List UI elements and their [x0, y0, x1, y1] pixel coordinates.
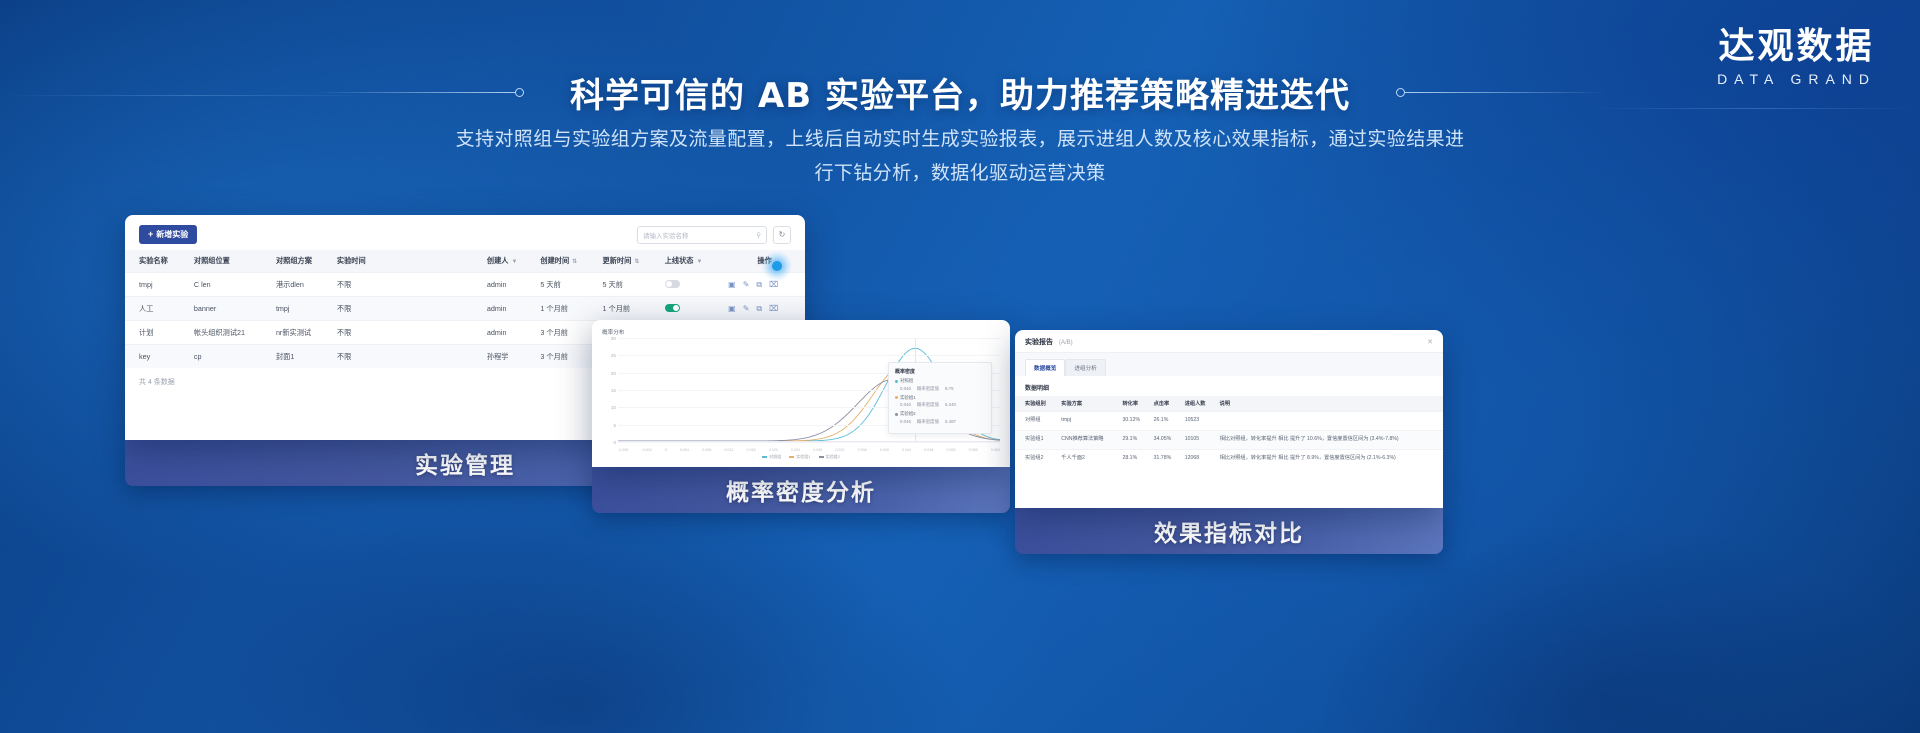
th-updated-time[interactable]: 更新时间⇅ — [599, 250, 661, 273]
y-tick-label: 25 — [611, 353, 616, 358]
tab-进组分析[interactable]: 进组分析 — [1065, 359, 1105, 376]
metric-cell-group: 实验组2 — [1015, 449, 1057, 467]
close-icon[interactable]: ✕ — [1427, 338, 1433, 346]
metric-screenshot: 实验报告 (A/B) ✕ 数据概览进组分析 数据明细 实验组别实验方案转化率点击… — [1015, 330, 1443, 508]
cell-time: 不限 — [333, 297, 483, 321]
th-experiment-name: 实验名称 — [125, 250, 190, 273]
y-tick-label: 10 — [611, 405, 616, 410]
online-toggle[interactable] — [665, 304, 680, 312]
metric-cell-plan: tmpj — [1057, 412, 1118, 431]
y-tick-label: 15 — [611, 388, 616, 393]
metric-th-3: 点击率 — [1150, 396, 1181, 412]
brand-name-cn: 达观数据 — [1717, 26, 1876, 67]
tooltip-group: 对照组0.046概率密度值8.75 — [895, 378, 985, 392]
th-online-label: 上线状态 — [665, 256, 694, 265]
metric-section-title: 数据明细 — [1015, 376, 1443, 396]
x-tick-label: 0.012 — [724, 448, 733, 452]
cell-name: key — [125, 345, 190, 369]
legend-item[interactable]: 实验组2 — [819, 454, 840, 460]
card-label-density: 概率密度分析 — [592, 467, 1010, 513]
metric-cell-plan: 千人千面2 — [1057, 449, 1118, 467]
metric-cell-note — [1216, 412, 1443, 431]
cell-updated: 1 个月前 — [599, 297, 661, 321]
metric-th-0: 实验组别 — [1015, 396, 1057, 412]
cell-creator: admin — [483, 321, 536, 345]
tooltip-metric: 0.046 — [900, 386, 911, 392]
delete-icon[interactable]: ⌧ — [769, 280, 778, 290]
tooltip-metric: 0.046 — [900, 419, 911, 425]
th-control-plan: 对照组方案 — [272, 250, 333, 273]
search-icon[interactable]: ⚲ — [756, 231, 761, 239]
refresh-icon[interactable]: ↻ — [773, 226, 791, 244]
filter-icon[interactable]: ▼ — [512, 259, 518, 265]
x-tick-label: 0.028 — [813, 448, 822, 452]
card-label-metric: 效果指标对比 — [1015, 508, 1443, 554]
new-experiment-label: 新增实验 — [156, 229, 188, 240]
sort-icon[interactable]: ⇅ — [572, 259, 577, 265]
cell-position: C len — [190, 273, 272, 297]
metric-cell-conversion: 30.12% — [1118, 412, 1149, 431]
x-tick-label: 0.032 — [835, 448, 844, 452]
subtitle-line-2: 行下钻分析，数据化驱动运营决策 — [370, 156, 1550, 190]
cell-plan: 港示dlen — [272, 273, 333, 297]
cell-operations: ▣✎⧉⌧ — [724, 273, 805, 297]
cell-position: banner — [190, 297, 272, 321]
table-row[interactable]: 人工bannertmpj不限admin1 个月前1 个月前▣✎⧉⌧ — [125, 297, 805, 321]
cell-time: 不限 — [333, 345, 483, 369]
subtitle-line-1: 支持对照组与实验组方案及流量配置，上线后自动实时生成实验报表，展示进组人数及核心… — [370, 122, 1550, 156]
cell-created: 3 个月前 — [536, 345, 598, 369]
edit-icon[interactable]: ✎ — [743, 280, 750, 290]
search-placeholder: 请输入实验名称 — [643, 230, 689, 240]
cell-online-status[interactable] — [661, 297, 724, 321]
cell-name: 人工 — [125, 297, 190, 321]
metric-cell-group: 对照组 — [1015, 412, 1057, 431]
metric-cell-ctr: 34.05% — [1150, 430, 1181, 449]
x-tick-label: 0.040 — [880, 448, 889, 452]
grid-line — [618, 338, 1000, 339]
headline-rule-right — [1405, 92, 1605, 93]
metric-cell-ctr: 26.1% — [1150, 412, 1181, 431]
x-tick-label: 0.016 — [747, 448, 756, 452]
tooltip-value: 5.240 — [945, 402, 956, 408]
chart-y-axis: 302520151050 — [602, 338, 618, 442]
th-created-label: 创建时间 — [540, 256, 569, 265]
metric-th-5: 说明 — [1216, 396, 1443, 412]
metric-tabs: 数据概览进组分析 — [1015, 353, 1443, 376]
cell-name: tmpj — [125, 273, 190, 297]
chart-x-tick-labels: -0.008-0.00400.0040.0080.0120.0160.0200.… — [618, 448, 1000, 452]
cell-creator: 孙程学 — [483, 345, 536, 369]
modal-title-text: 实验报告 — [1025, 339, 1053, 346]
tooltip-label: 概率密度值 — [917, 419, 939, 425]
experiment-search-area: 请输入实验名称 ⚲ ↻ — [637, 226, 791, 244]
metric-cell-users: 10523 — [1181, 412, 1216, 431]
tooltip-groups: 对照组0.046概率密度值8.75实验组10.046概率密度值5.240实验组2… — [895, 378, 985, 425]
x-tick-label: 0.024 — [791, 448, 800, 452]
headline-rule-left — [315, 92, 515, 93]
plus-icon: + — [148, 230, 153, 239]
metric-table-header: 实验组别实验方案转化率点击率进组人数说明 — [1015, 396, 1443, 412]
metric-row: 对照组tmpj30.12%26.1%10523 — [1015, 412, 1443, 431]
filter-icon[interactable]: ▼ — [696, 259, 702, 265]
th-online-status[interactable]: 上线状态▼ — [661, 250, 724, 273]
tooltip-group: 实验组20.046概率密度值5.487 — [895, 411, 985, 425]
th-creator[interactable]: 创建人▼ — [483, 250, 536, 273]
page-title: 科学可信的 AB 实验平台，助力推荐策略精进迭代 — [524, 68, 1396, 117]
grid-line — [618, 355, 1000, 356]
legend-item[interactable]: 对照组 — [762, 454, 781, 460]
chart-area: 302520151050 -0.008-0.00400.0040.0080.01… — [602, 338, 1000, 456]
x-tick-label: 0.020 — [769, 448, 778, 452]
metric-th-1: 实验方案 — [1057, 396, 1118, 412]
cell-time: 不限 — [333, 321, 483, 345]
cell-plan: 封面1 — [272, 345, 333, 369]
metric-cell-ctr: 31.78% — [1150, 449, 1181, 467]
view-icon[interactable]: ▣ — [728, 280, 736, 290]
cell-online-status[interactable] — [661, 273, 724, 297]
tab-数据概览[interactable]: 数据概览 — [1025, 359, 1065, 376]
edit-icon[interactable]: ✎ — [743, 304, 750, 314]
metric-row: 实验组2千人千面228.1%31.78%12068相比对照组，转化率提升 相比 … — [1015, 449, 1443, 467]
x-tick-label: 0.008 — [702, 448, 711, 452]
x-tick-label: 0.060 — [991, 448, 1000, 452]
card-metric-comparison: 实验报告 (A/B) ✕ 数据概览进组分析 数据明细 实验组别实验方案转化率点击… — [1015, 330, 1443, 554]
metric-cell-note: 相比对照组，转化率提升 相比 提升了 8.9%，置信度置信区间为 (2.1%-6… — [1216, 449, 1443, 467]
metric-cell-conversion: 28.1% — [1118, 449, 1149, 467]
x-tick-label: 0.056 — [969, 448, 978, 452]
th-creator-label: 创建人 — [487, 256, 509, 265]
cell-operations: ▣✎⧉⌧ — [724, 297, 805, 321]
headline-dot-left — [515, 88, 524, 97]
metric-th-4: 进组人数 — [1181, 396, 1216, 412]
y-tick-label: 20 — [611, 371, 616, 376]
metric-cell-note: 相比对照组，转化率提升 相比 提升了 10.6%，置信度置信区间为 (3.4%-… — [1216, 430, 1443, 449]
tooltip-label: 概率密度值 — [917, 402, 939, 408]
th-updated-label: 更新时间 — [603, 256, 632, 265]
chart-tooltip: 概率密度 对照组0.046概率密度值8.75实验组10.046概率密度值5.24… — [888, 362, 992, 434]
x-tick-label: 0.048 — [924, 448, 933, 452]
x-tick-label: 0 — [665, 448, 667, 452]
cell-created: 3 个月前 — [536, 321, 598, 345]
modal-subtitle: (A/B) — [1059, 340, 1073, 346]
y-tick-label: 30 — [611, 336, 616, 341]
cell-created: 5 天前 — [536, 273, 598, 297]
y-tick-label: 0 — [613, 440, 616, 445]
x-tick-label: 0.004 — [680, 448, 689, 452]
new-experiment-button[interactable]: + 新增实验 — [139, 225, 197, 244]
chart-legend: 对照组实验组1实验组2 — [602, 454, 1000, 460]
metric-cell-plan: CNN推荐算法策略 — [1057, 430, 1118, 449]
legend-item[interactable]: 实验组1 — [789, 454, 810, 460]
experiment-toolbar: + 新增实验 请输入实验名称 ⚲ ↻ — [125, 215, 805, 250]
cell-creator: admin — [483, 297, 536, 321]
x-tick-label: -0.008 — [618, 448, 628, 452]
x-tick-label: 0.052 — [946, 448, 955, 452]
table-row[interactable]: tmpjC len港示dlen不限admin5 天前5 天前▣✎⧉⌧ — [125, 273, 805, 297]
th-experiment-time: 实验时间 — [333, 250, 483, 273]
metric-cell-users: 12068 — [1181, 449, 1216, 467]
th-control-position: 对照组位置 — [190, 250, 272, 273]
metric-th-2: 转化率 — [1118, 396, 1149, 412]
tooltip-group: 实验组10.046概率密度值5.240 — [895, 395, 985, 409]
delete-icon[interactable]: ⌧ — [769, 304, 778, 314]
chart-title: 概率分布 — [602, 328, 1000, 336]
x-tick-label: 0.036 — [858, 448, 867, 452]
tooltip-label: 概率密度值 — [917, 386, 939, 392]
tooltip-value: 8.75 — [945, 386, 954, 392]
sort-icon[interactable]: ⇅ — [634, 259, 639, 265]
cell-position: cp — [190, 345, 272, 369]
headline-dot-right — [1396, 88, 1405, 97]
tooltip-series-name: 实验组1 — [900, 395, 916, 401]
modal-title: 实验报告 (A/B) — [1025, 337, 1073, 347]
metric-table-body: 对照组tmpj30.12%26.1%10523实验组1CNN推荐算法策略29.1… — [1015, 412, 1443, 468]
x-tick-label: 0.044 — [902, 448, 911, 452]
cell-created: 1 个月前 — [536, 297, 598, 321]
x-tick-label: -0.004 — [641, 448, 651, 452]
search-input[interactable]: 请输入实验名称 ⚲ — [637, 226, 767, 244]
cell-updated: 5 天前 — [599, 273, 661, 297]
view-icon[interactable]: ▣ — [728, 304, 736, 314]
tooltip-value: 5.487 — [945, 419, 956, 425]
click-pulse-indicator — [762, 251, 792, 281]
grid-line — [618, 442, 1000, 443]
cell-plan: nr新实测试 — [272, 321, 333, 345]
cell-name: 计划 — [125, 321, 190, 345]
tooltip-series-name: 对照组 — [900, 378, 913, 384]
copy-icon[interactable]: ⧉ — [756, 280, 762, 290]
cell-creator: admin — [483, 273, 536, 297]
modal-header: 实验报告 (A/B) ✕ — [1015, 330, 1443, 353]
th-created-time[interactable]: 创建时间⇅ — [536, 250, 598, 273]
cell-plan: tmpj — [272, 297, 333, 321]
tooltip-metric: 0.046 — [900, 402, 911, 408]
cell-time: 不限 — [333, 273, 483, 297]
page-subtitle: 支持对照组与实验组方案及流量配置，上线后自动实时生成实验报表，展示进组人数及核心… — [370, 122, 1550, 190]
metric-table: 实验组别实验方案转化率点击率进组人数说明 对照组tmpj30.12%26.1%1… — [1015, 396, 1443, 467]
online-toggle[interactable] — [665, 280, 680, 288]
metric-cell-conversion: 29.1% — [1118, 430, 1149, 449]
y-tick-label: 5 — [613, 423, 616, 428]
metric-row: 实验组1CNN推荐算法策略29.1%34.05%10105相比对照组，转化率提升… — [1015, 430, 1443, 449]
copy-icon[interactable]: ⧉ — [756, 304, 762, 314]
table-header-row: 实验名称 对照组位置 对照组方案 实验时间 创建人▼ 创建时间⇅ 更新时间⇅ 上… — [125, 250, 805, 273]
card-probability-density: 概率分布 302520151050 -0.008-0.00400.0040.00… — [592, 320, 1010, 513]
metric-cell-group: 实验组1 — [1015, 430, 1057, 449]
cell-position: 帐头组织测试21 — [190, 321, 272, 345]
tooltip-series-name: 实验组2 — [900, 411, 916, 417]
density-screenshot: 概率分布 302520151050 -0.008-0.00400.0040.00… — [592, 320, 1010, 467]
headline-row: 科学可信的 AB 实验平台，助力推荐策略精进迭代 — [0, 68, 1920, 117]
metric-cell-users: 10105 — [1181, 430, 1216, 449]
tooltip-title: 概率密度 — [895, 368, 985, 375]
